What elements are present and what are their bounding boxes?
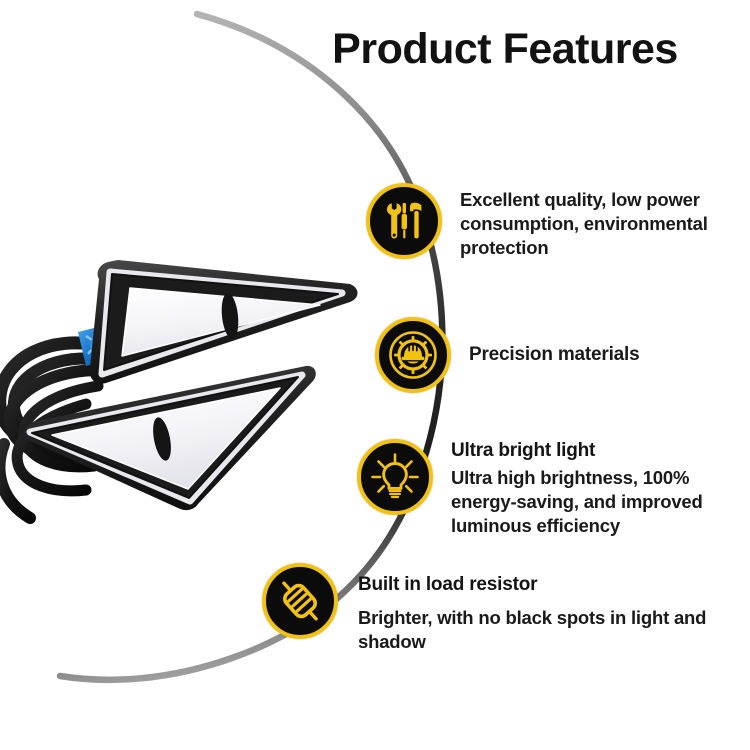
feature-item-excellent-quality: Excellent quality, low power consumption… [366, 183, 746, 260]
feature-body-excellent-quality: Excellent quality, low power consumption… [460, 188, 746, 260]
feature-item-precision-materials: Precision materials [375, 317, 745, 393]
feature-body-precision-materials: Precision materials [469, 319, 639, 368]
feature-body-ultra-bright-light: Ultra high brightness, 100% energy-savin… [451, 466, 747, 538]
feature-text-block: Ultra bright light Ultra high brightness… [433, 439, 747, 538]
product-image [0, 236, 370, 526]
feature-item-ultra-bright-light: Ultra bright light Ultra high brightness… [357, 439, 747, 538]
tools-icon [366, 183, 442, 259]
infographic-canvas: Product Features [0, 0, 750, 750]
hard-hat-gear-icon [375, 317, 451, 393]
feature-heading-ultra-bright-light: Ultra bright light [451, 439, 747, 463]
feature-item-built-in-load-resistor: Built in load resistor Brighter, with no… [262, 563, 742, 654]
feature-text-block: Built in load resistor Brighter, with no… [338, 563, 742, 654]
light-bulb-icon [357, 439, 433, 515]
page-title: Product Features [295, 27, 715, 72]
resistor-icon [262, 563, 338, 639]
led-light-upper [90, 260, 358, 384]
feature-body-built-in-load-resistor: Brighter, with no black spots in light a… [358, 600, 742, 654]
feature-heading-built-in-load-resistor: Built in load resistor [358, 573, 742, 597]
feature-text-block: Precision materials [451, 317, 639, 368]
feature-text-block: Excellent quality, low power consumption… [442, 183, 746, 260]
